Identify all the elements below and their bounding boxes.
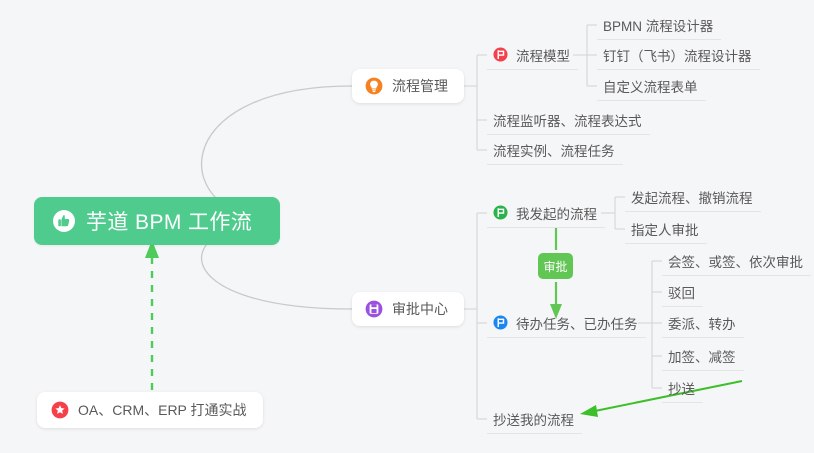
node-label: 钉钉（飞书）流程设计器 — [603, 45, 752, 65]
branch-label: 流程管理 — [392, 76, 448, 96]
node-cc-to-me-processes[interactable]: 抄送我的流程 — [487, 404, 582, 434]
node-carbon-copy[interactable]: 抄送 — [662, 373, 703, 403]
node-label: 流程实例、流程任务 — [493, 140, 615, 160]
cc-arrow-head — [580, 405, 598, 417]
node-label: 指定人审批 — [631, 219, 699, 239]
node-label: 委派、转办 — [668, 313, 736, 333]
node-delegate-transfer[interactable]: 委派、转办 — [662, 308, 744, 338]
node-label: 我发起的流程 — [516, 203, 597, 223]
node-custom-process-form[interactable]: 自定义流程表单 — [597, 71, 706, 101]
node-label: 流程监听器、流程表达式 — [493, 110, 642, 130]
node-process-instance-task[interactable]: 流程实例、流程任务 — [487, 135, 623, 165]
thumbs-up-icon — [52, 209, 76, 233]
mindmap-canvas: 芋道 BPM 工作流 流程管理 流程模型 BPMN 流程设计器 钉钉（飞书）流程… — [0, 0, 814, 453]
flag-icon — [493, 315, 508, 330]
node-assignee-approval[interactable]: 指定人审批 — [625, 214, 707, 244]
note-icon — [365, 300, 383, 318]
node-process-listener-expression[interactable]: 流程监听器、流程表达式 — [487, 105, 650, 135]
branch-node-process-management[interactable]: 流程管理 — [352, 69, 464, 103]
node-dingtalk-feishu-designer[interactable]: 钉钉（飞书）流程设计器 — [597, 40, 760, 70]
flag-icon — [493, 47, 508, 62]
node-label: 待办任务、已办任务 — [516, 313, 638, 333]
root-label: 芋道 BPM 工作流 — [86, 206, 252, 236]
integration-note-card[interactable]: OA、CRM、ERP 打通实战 — [37, 392, 263, 428]
node-my-initiated-processes[interactable]: 我发起的流程 — [487, 198, 605, 228]
node-add-remove-sign[interactable]: 加签、减签 — [662, 341, 744, 371]
root-node[interactable]: 芋道 BPM 工作流 — [34, 197, 280, 245]
node-countersign-orsign-sequential[interactable]: 会签、或签、依次审批 — [662, 246, 811, 276]
node-label: 抄送 — [668, 378, 695, 398]
branch-label: 审批中心 — [392, 299, 448, 319]
node-start-cancel-process[interactable]: 发起流程、撤销流程 — [625, 182, 761, 212]
node-reject[interactable]: 驳回 — [662, 277, 703, 307]
lightbulb-icon — [365, 77, 383, 95]
node-label: 自定义流程表单 — [603, 76, 698, 96]
node-label: 流程模型 — [516, 45, 570, 65]
approval-tag-label: 审批 — [543, 258, 567, 275]
star-icon — [51, 401, 69, 419]
node-bpmn-designer[interactable]: BPMN 流程设计器 — [597, 10, 721, 40]
integration-note-label: OA、CRM、ERP 打通实战 — [78, 400, 247, 420]
approval-tag[interactable]: 审批 — [538, 253, 573, 279]
branch-node-approval-center[interactable]: 审批中心 — [352, 292, 464, 326]
node-process-model[interactable]: 流程模型 — [487, 40, 578, 70]
node-label: 抄送我的流程 — [493, 409, 574, 429]
node-todo-done-tasks[interactable]: 待办任务、已办任务 — [487, 308, 646, 338]
flag-icon — [493, 205, 508, 220]
node-label: 发起流程、撤销流程 — [631, 187, 753, 207]
node-label: 会签、或签、依次审批 — [668, 251, 803, 271]
node-label: 加签、减签 — [668, 346, 736, 366]
node-label: 驳回 — [668, 282, 695, 302]
node-label: BPMN 流程设计器 — [603, 15, 713, 35]
